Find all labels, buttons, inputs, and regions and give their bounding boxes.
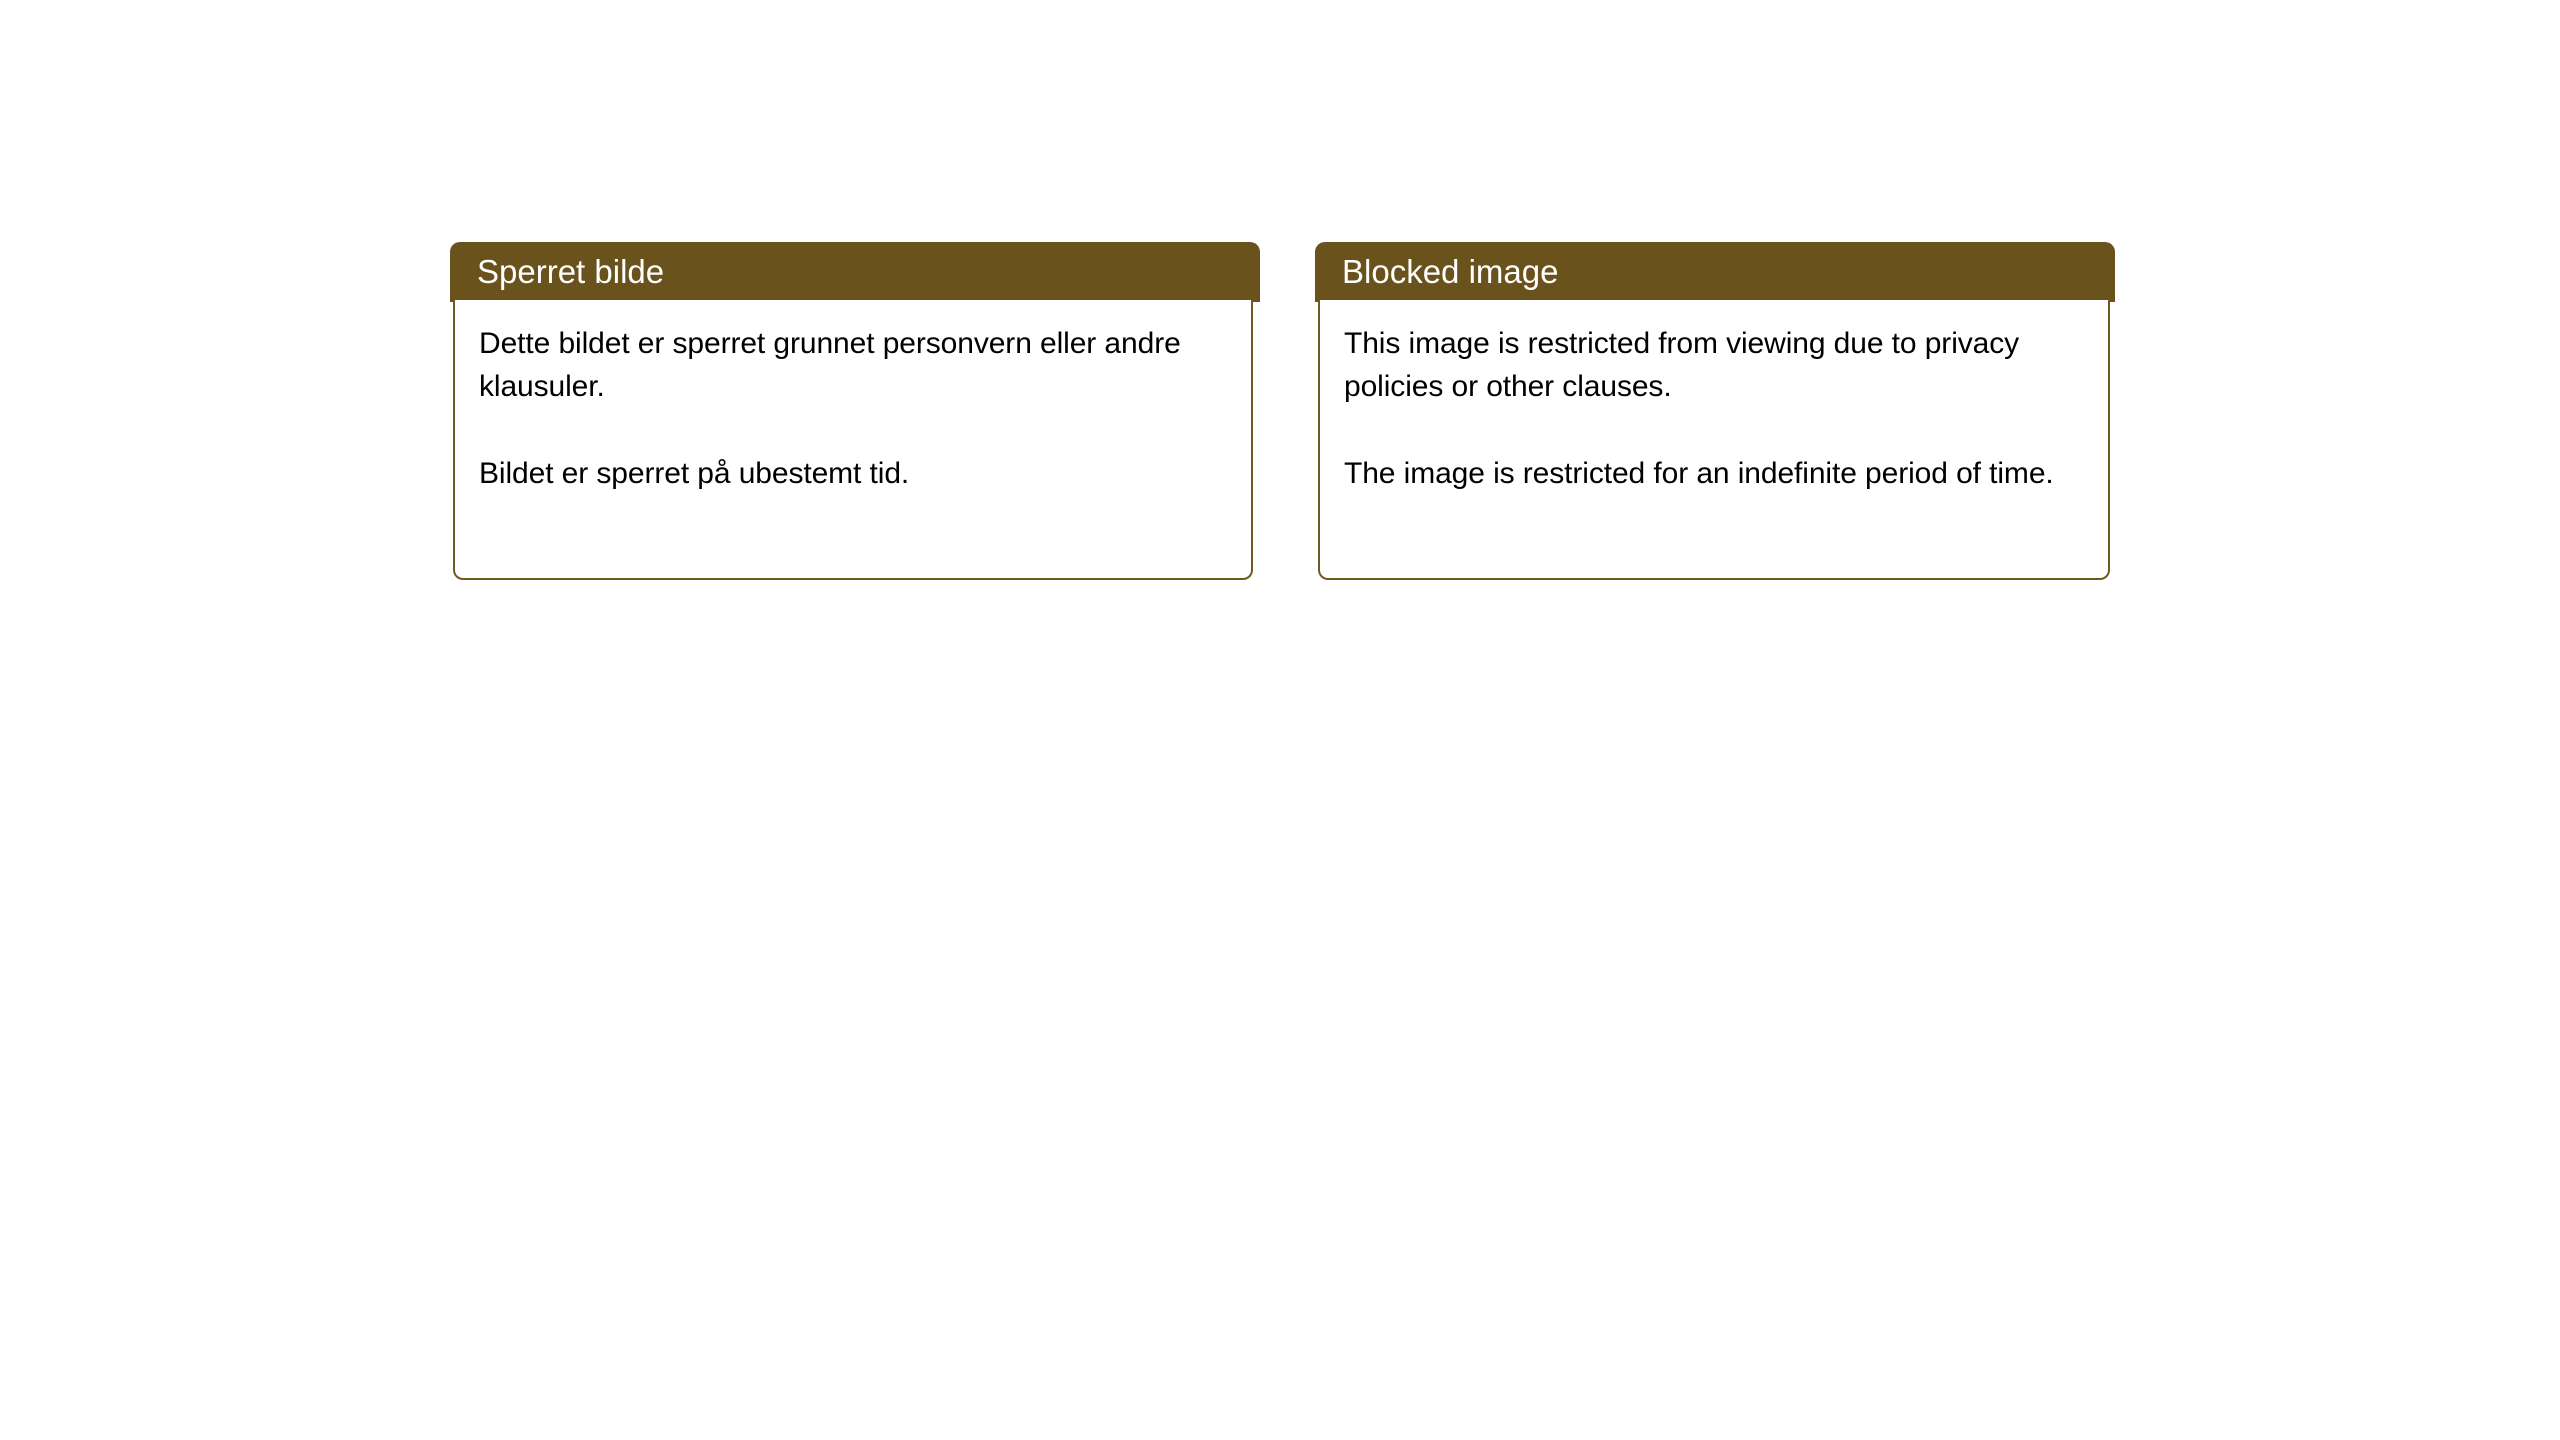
notice-paragraph: This image is restricted from viewing du… [1344,322,2082,408]
blocked-image-notice-english: Blocked image This image is restricted f… [1315,242,2115,580]
notice-title-norwegian: Sperret bilde [450,242,1260,302]
notice-paragraph: The image is restricted for an indefinit… [1344,452,2082,495]
notice-body-english: This image is restricted from viewing du… [1318,300,2110,580]
blocked-image-notice-norwegian: Sperret bilde Dette bildet er sperret gr… [450,242,1260,580]
page-canvas: Sperret bilde Dette bildet er sperret gr… [0,0,2560,1440]
notice-paragraph: Dette bildet er sperret grunnet personve… [479,322,1225,408]
notice-paragraph: Bildet er sperret på ubestemt tid. [479,452,1225,495]
notice-body-norwegian: Dette bildet er sperret grunnet personve… [453,300,1253,580]
notice-title-english: Blocked image [1315,242,2115,302]
